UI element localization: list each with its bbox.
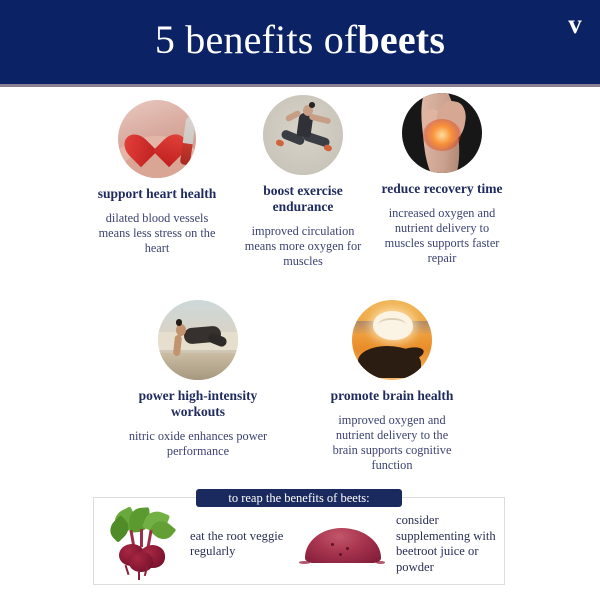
benefit-title: promote brain health bbox=[322, 388, 462, 404]
fresh-beets-image bbox=[100, 509, 186, 579]
benefit-title: power high-intensity workouts bbox=[128, 388, 268, 420]
page-header: 5 benefits of beets v bbox=[0, 0, 600, 84]
benefit-card-boost-exercise-endurance: boost exercise endurance improved circul… bbox=[238, 95, 368, 269]
benefit-card-support-heart-health: support heart health dilated blood vesse… bbox=[92, 100, 222, 256]
running-woman-image bbox=[263, 95, 343, 175]
benefit-card-power-high-intensity-workouts: power high-intensity workouts nitric oxi… bbox=[128, 300, 268, 459]
beetroot-powder-image bbox=[295, 516, 390, 572]
page-title: 5 benefits of beets bbox=[0, 0, 600, 84]
benefit-body: increased oxygen and nutrient delivery t… bbox=[377, 206, 507, 266]
hand-holding-brain-image bbox=[352, 300, 432, 380]
footer-tip-eat-root-veggie: eat the root veggie regularly bbox=[100, 508, 295, 580]
benefit-title: reduce recovery time bbox=[377, 181, 507, 197]
benefit-card-promote-brain-health: promote brain health improved oxygen and… bbox=[322, 300, 462, 473]
footer-banner-label: to reap the benefits of beets: bbox=[196, 489, 402, 507]
benefit-title: support heart health bbox=[92, 186, 222, 202]
footer-tip-text: consider supplementing with beetroot jui… bbox=[396, 513, 500, 575]
footer-tip-beetroot-supplement: consider supplementing with beetroot jui… bbox=[295, 508, 500, 580]
footer-tip-text: eat the root veggie regularly bbox=[190, 529, 295, 560]
page-title-light: 5 benefits of bbox=[155, 20, 358, 60]
header-divider bbox=[0, 84, 600, 87]
benefit-body: improved circulation means more oxygen f… bbox=[238, 224, 368, 269]
page-title-bold: beets bbox=[357, 20, 445, 60]
benefit-body: nitric oxide enhances power performance bbox=[128, 429, 268, 459]
plank-workout-image bbox=[158, 300, 238, 380]
benefit-card-reduce-recovery-time: reduce recovery time increased oxygen an… bbox=[377, 93, 507, 266]
benefit-body: dilated blood vessels means less stress … bbox=[92, 211, 222, 256]
brand-v-logo-icon: v bbox=[562, 9, 588, 39]
benefit-title: boost exercise endurance bbox=[238, 183, 368, 215]
benefit-body: improved oxygen and nutrient delivery to… bbox=[322, 413, 462, 473]
hands-holding-heart-image bbox=[118, 100, 196, 178]
knee-pain-glow-image bbox=[402, 93, 482, 173]
